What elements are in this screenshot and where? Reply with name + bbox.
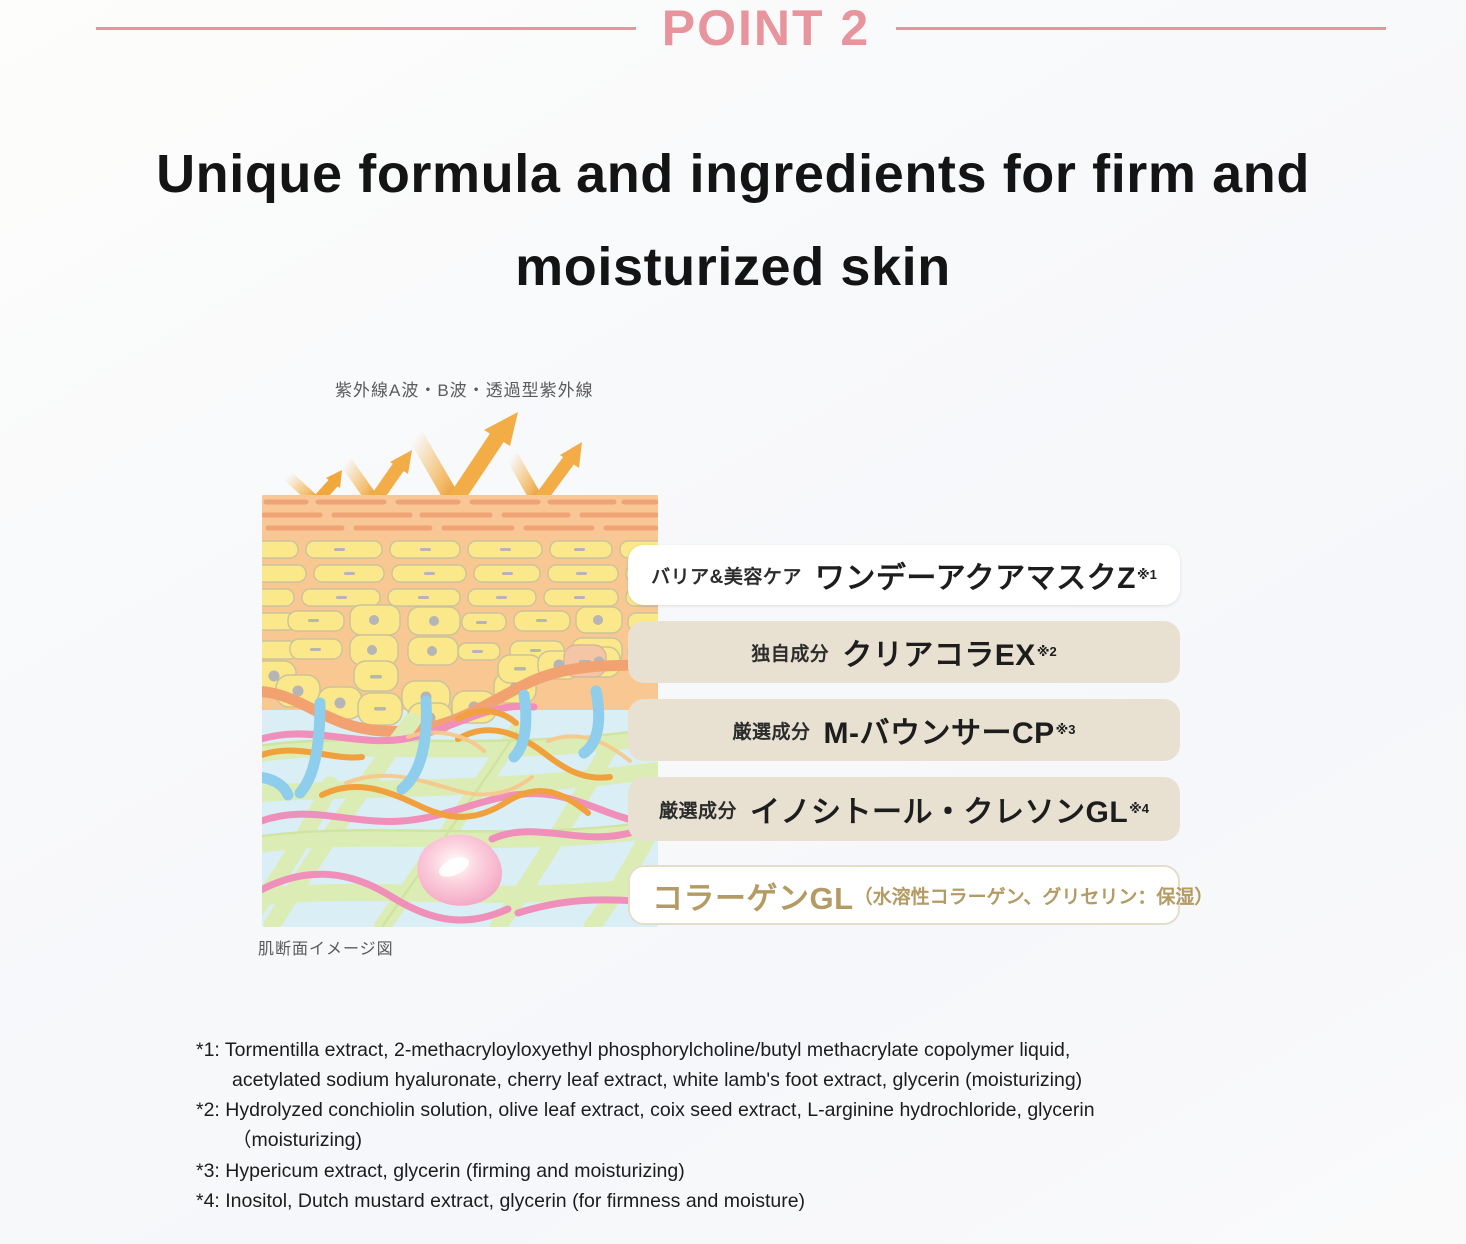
footnote-list: *1: Tormentilla extract, 2-methacryloylo… bbox=[196, 1036, 1296, 1218]
ingredient-chip-clear-cola-ex[interactable]: 独自成分 クリアコラEX ※2 bbox=[628, 621, 1180, 683]
ingredient-chip-inositol-cresson-gl[interactable]: 厳選成分 イノシトール・クレソンGL ※4 bbox=[628, 777, 1180, 841]
chip-prefix: 独自成分 bbox=[751, 639, 829, 666]
footnote-3: *3: Hypericum extract, glycerin (firming… bbox=[196, 1157, 1296, 1187]
chip-footnote-marker: ※2 bbox=[1037, 644, 1057, 660]
footnote-2-line-2: （moisturizing) bbox=[196, 1126, 1296, 1156]
ingredient-chip-one-day-aqua-mask-z[interactable]: バリア&美容ケア ワンデーアクアマスクZ ※1 bbox=[628, 545, 1180, 605]
chip-name: イノシトール・クレソンGL bbox=[750, 787, 1128, 831]
uv-arrows-svg bbox=[250, 408, 680, 508]
chip-name: ワンデーアクアマスクZ bbox=[815, 553, 1136, 597]
footnote-2-line-1: *2: Hydrolyzed conchiolin solution, oliv… bbox=[196, 1099, 1095, 1121]
header-rule-left bbox=[96, 27, 636, 30]
chip-name: M-バウンサーCP bbox=[823, 708, 1054, 752]
uv-arrow-3 bbox=[416, 412, 518, 502]
footnote-2: *2: Hydrolyzed conchiolin solution, oliv… bbox=[196, 1096, 1296, 1155]
footnote-1-line-2: acetylated sodium hyaluronate, cherry le… bbox=[196, 1066, 1296, 1096]
skin-cross-section bbox=[262, 495, 658, 927]
chip-footnote-marker: ※4 bbox=[1129, 801, 1149, 817]
epidermal-cells-flat bbox=[262, 541, 658, 606]
skin-cross-section-svg bbox=[262, 495, 658, 927]
footnote-3-line-1: *3: Hypericum extract, glycerin (firming… bbox=[196, 1160, 685, 1182]
footnote-1-line-1: *1: Tormentilla extract, 2-methacryloylo… bbox=[196, 1039, 1070, 1061]
skin-diagram-figure: 紫外線A波・B波・透過型紫外線 bbox=[250, 360, 1190, 970]
header-rule-right bbox=[896, 27, 1386, 30]
skin-diagram-caption: 肌断面イメージ図 bbox=[258, 935, 394, 959]
page-title: Unique formula and ingredients for firm … bbox=[0, 128, 1466, 314]
chip-prefix: バリア&美容ケア bbox=[651, 562, 802, 589]
uv-rays-label: 紫外線A波・B波・透過型紫外線 bbox=[335, 376, 594, 401]
uv-arrow-4 bbox=[512, 442, 582, 502]
footnote-4: *4: Inositol, Dutch mustard extract, gly… bbox=[196, 1187, 1296, 1217]
chip-name: クリアコラEX bbox=[842, 630, 1036, 674]
ingredient-chip-m-bouncer-cp[interactable]: 厳選成分 M-バウンサーCP ※3 bbox=[628, 699, 1180, 761]
chip-prefix: 厳選成分 bbox=[659, 796, 737, 823]
chip-footnote-marker: ※1 bbox=[1137, 567, 1157, 583]
footnote-4-line-1: *4: Inositol, Dutch mustard extract, gly… bbox=[196, 1190, 805, 1212]
point-header: POINT 2 bbox=[0, 0, 1466, 64]
point-label: POINT 2 bbox=[662, 3, 870, 53]
chip-prefix: 厳選成分 bbox=[732, 717, 810, 744]
chip-description: （水溶性コラーゲン、グリセリン：保湿） bbox=[854, 882, 1214, 909]
footnote-1: *1: Tormentilla extract, 2-methacryloylo… bbox=[196, 1036, 1296, 1095]
ingredient-chip-collagen-gl[interactable]: コラーゲンGL （水溶性コラーゲン、グリセリン：保湿） bbox=[628, 865, 1180, 925]
chip-footnote-marker: ※3 bbox=[1056, 722, 1076, 738]
uv-arrows-group bbox=[250, 408, 680, 508]
chip-name: コラーゲンGL bbox=[652, 873, 854, 918]
